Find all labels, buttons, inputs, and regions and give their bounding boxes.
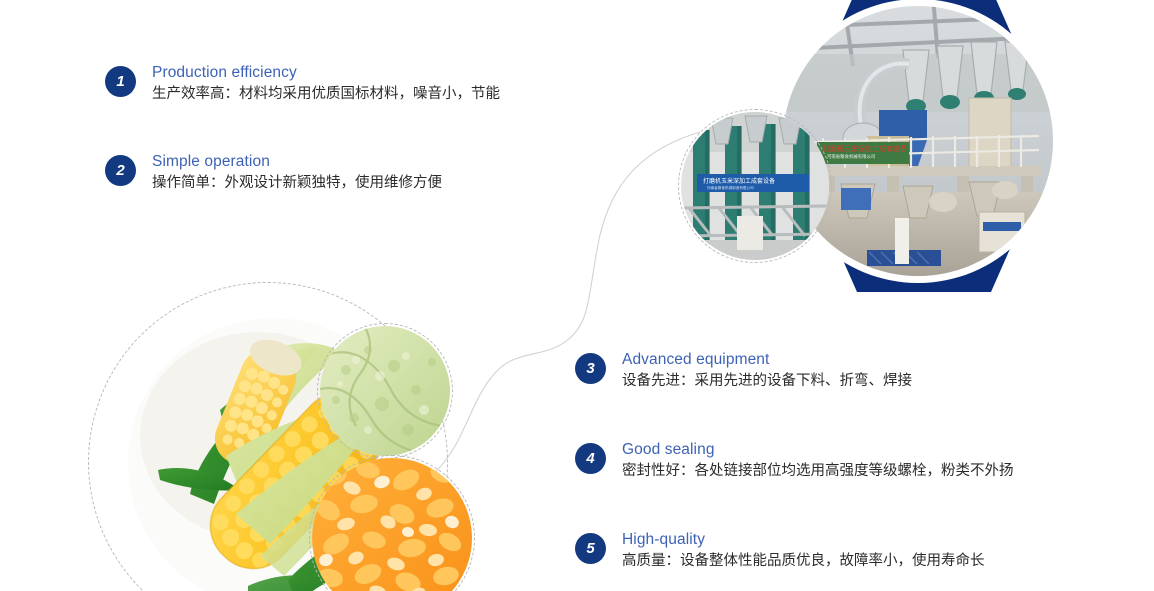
feature-desc-3: 设备先进：采用先进的设备下料、折弯、焊接 bbox=[622, 370, 912, 392]
feature-text-1: Production efficiency 生产效率高：材料均采用优质国标材料，… bbox=[152, 63, 500, 105]
feature-badge-3: 3 bbox=[575, 353, 606, 384]
svg-text:河南省粮食机械有限公司: 河南省粮食机械有限公司 bbox=[827, 153, 875, 160]
feature-title-5: High-quality bbox=[622, 530, 985, 549]
feature-infographic: 打磨机玉米深加工成套设备 河南省粮食机械有限公司 bbox=[0, 0, 1154, 591]
feature-badge-2: 2 bbox=[105, 155, 136, 186]
feature-badge-4: 4 bbox=[575, 443, 606, 474]
feature-desc-2: 操作简单：外观设计新颖独特，使用维修方便 bbox=[152, 172, 442, 194]
feature-item-1: 1 Production efficiency 生产效率高：材料均采用优质国标材… bbox=[105, 63, 500, 105]
feature-text-3: Advanced equipment 设备先进：采用先进的设备下料、折弯、焊接 bbox=[622, 350, 912, 392]
feature-badge-5: 5 bbox=[575, 533, 606, 564]
feature-item-5: 5 High-quality 高质量：设备整体性能品质优良，故障率小，使用寿命长 bbox=[575, 530, 1014, 572]
feature-item-3: 3 Advanced equipment 设备先进：采用先进的设备下料、折弯、焊… bbox=[575, 350, 1014, 392]
feature-title-4: Good sealing bbox=[622, 440, 1014, 459]
feature-title-1: Production efficiency bbox=[152, 63, 500, 82]
green-milling-machinery-photo: 打磨机玉米深加工成套设备 河南省粮食机械制造有限公司 bbox=[681, 112, 829, 260]
feature-item-2: 2 Simple operation 操作简单：外观设计新颖独特，使用维修方便 bbox=[105, 152, 500, 194]
corn-grits-photo bbox=[312, 458, 472, 591]
feature-list-top: 1 Production efficiency 生产效率高：材料均采用优质国标材… bbox=[105, 63, 500, 194]
svg-text:打磨机玉米深加工成套设备: 打磨机玉米深加工成套设备 bbox=[823, 144, 907, 153]
feature-desc-1: 生产效率高：材料均采用优质国标材料，噪音小，节能 bbox=[152, 83, 500, 105]
feature-list-bottom: 3 Advanced equipment 设备先进：采用先进的设备下料、折弯、焊… bbox=[575, 350, 1014, 572]
svg-text:河南省粮食机械制造有限公司: 河南省粮食机械制造有限公司 bbox=[707, 185, 754, 190]
feature-title-3: Advanced equipment bbox=[622, 350, 912, 369]
feature-title-2: Simple operation bbox=[152, 152, 442, 171]
svg-text:打磨机玉米深加工成套设备: 打磨机玉米深加工成套设备 bbox=[703, 177, 775, 185]
feature-text-2: Simple operation 操作简单：外观设计新颖独特，使用维修方便 bbox=[152, 152, 442, 194]
feature-text-4: Good sealing 密封性好：各处链接部位均选用高强度等级螺栓，粉类不外扬 bbox=[622, 440, 1014, 482]
feature-desc-4: 密封性好：各处链接部位均选用高强度等级螺栓，粉类不外扬 bbox=[622, 460, 1014, 482]
feature-badge-1: 1 bbox=[105, 66, 136, 97]
corn-flour-paste-photo bbox=[320, 326, 450, 456]
feature-desc-5: 高质量：设备整体性能品质优良，故障率小，使用寿命长 bbox=[622, 550, 985, 572]
feature-item-4: 4 Good sealing 密封性好：各处链接部位均选用高强度等级螺栓，粉类不… bbox=[575, 440, 1014, 482]
feature-text-5: High-quality 高质量：设备整体性能品质优良，故障率小，使用寿命长 bbox=[622, 530, 985, 572]
